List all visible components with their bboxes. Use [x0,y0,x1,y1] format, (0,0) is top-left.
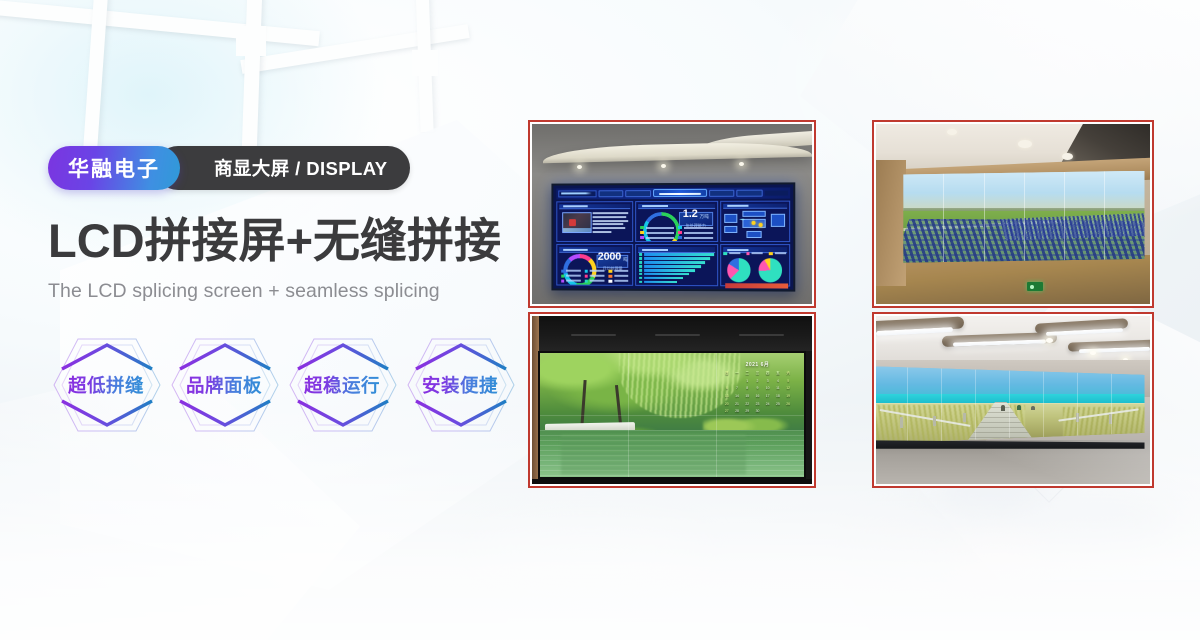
dashboard-panel-topology [720,201,790,243]
promo-banner: 商显大屏 / DISPLAY 华融电子 LCD拼接屏+无缝拼接 The LCD … [0,0,1200,640]
kpi-secondary-value: 2000 [598,252,621,263]
exit-sign-icon [1027,282,1043,291]
product-category-label: 商显大屏 / DISPLAY [156,146,410,190]
window-mullion-joint [236,26,266,56]
window-mullion-joint [412,50,438,76]
brand-badge: 商显大屏 / DISPLAY 华融电子 [48,146,180,190]
video-wall-screen [903,171,1144,263]
ceiling-spotlight-icon [577,165,582,169]
feature-badge-1: 品牌面板 [166,329,282,441]
ceiling-spotlight-icon [739,162,744,166]
chart-legend [640,228,713,240]
chart-legend [561,271,628,283]
dashboard-panel-pies [720,245,790,287]
feature-badge-label: 超稳运行 [304,372,380,398]
kpi-secondary: 2000 吨 日均处理量 [597,255,629,268]
feature-badge-label: 超低拼缝 [68,372,144,398]
feature-badge-3: 安装便捷 [402,329,518,441]
bar-chart [640,253,714,284]
calendar-title: 2021 6月 [722,361,793,369]
dashboard-footer-bar [725,283,788,289]
pie-chart [728,259,752,283]
dashboard-title-plate [653,190,708,198]
dashboard-panel-intro [557,201,634,242]
chart-legend [724,252,786,256]
calendar-grid: 日 一 二 三 四 五 六 1 2 3 4 [722,369,793,415]
ceiling-light-icon [1046,338,1053,343]
dashboard-screen: 1.2 万吨 年处理能力 [552,183,795,292]
feature-badge-2: 超稳运行 [284,329,400,441]
kpi-primary-unit: 万吨 [700,214,709,220]
photo-dashboard-video-wall[interactable]: 1.2 万吨 年处理能力 [528,120,816,308]
feature-badge-row: 超低拼缝 品牌面板 [48,329,518,441]
ceiling-light-icon [1062,153,1073,160]
feature-badge-0: 超低拼缝 [48,329,164,441]
brand-name-label: 华融电子 [48,146,180,190]
dashboard-topbar [557,188,790,200]
panel-thumbnail [562,213,592,233]
kpi-primary-value: 1.2 [683,209,698,220]
page-title: LCD拼接屏+无缝拼接 [48,216,518,266]
photo-beach-boardwalk-wall[interactable] [872,312,1154,488]
feature-badge-label: 安装便捷 [422,372,498,398]
dashboard-panel-category-bars [635,245,718,287]
dashboard-panel-stats: 1.2 万吨 年处理能力 [635,201,718,243]
video-wall-screen [876,366,1145,443]
dashboard-panel-area-share: 2000 吨 日均处理量 [557,245,634,287]
page-subtitle: The LCD splicing screen + seamless splic… [48,280,518,303]
photo-solar-farm-wall[interactable] [872,120,1154,308]
calendar-overlay: 2021 6月 日 一 二 三 四 五 六 1 2 [722,361,793,415]
pie-chart [759,259,783,283]
kpi-secondary-unit: 吨 [623,257,628,263]
kpi-primary: 1.2 万吨 年处理能力 [679,212,713,226]
photo-garden-lake-wall[interactable]: 2021 6月 日 一 二 三 四 五 六 1 2 [528,312,816,488]
video-wall-screen: 2021 6月 日 一 二 三 四 五 六 1 2 [538,351,805,479]
feature-badge-label: 品牌面板 [186,372,262,398]
headline-column: 商显大屏 / DISPLAY 华融电子 LCD拼接屏+无缝拼接 The LCD … [48,146,518,441]
ceiling-spotlight-icon [661,164,666,168]
